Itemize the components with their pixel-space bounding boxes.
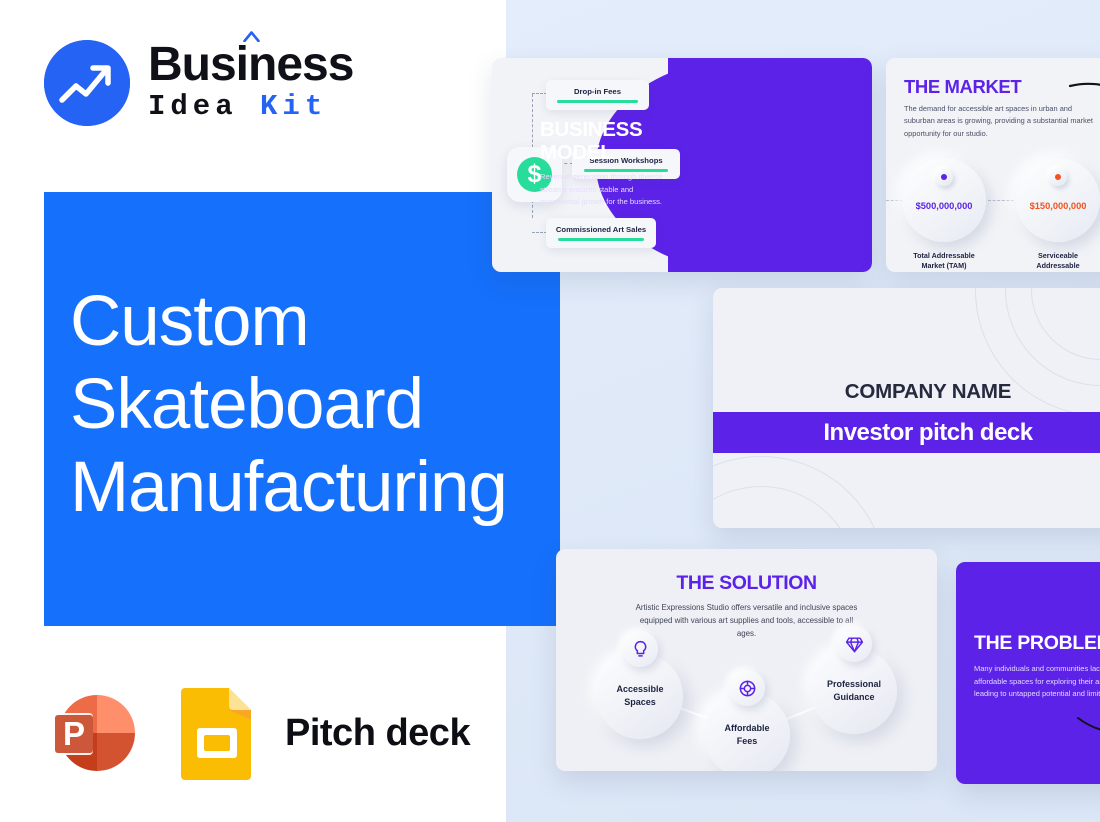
format-badges: P Pitch deck <box>45 686 470 780</box>
slide-company-title[interactable]: COMPANY NAME Investor pitch deck <box>713 288 1100 528</box>
logo-wordmark-idea: Idea <box>148 90 238 123</box>
solution-title: THE SOLUTION <box>556 572 937 595</box>
solution-node-label: Professional Guidance <box>827 678 881 704</box>
hero-title-line-1: Custom <box>70 280 570 363</box>
logo-wordmark-line1: Business <box>148 42 353 88</box>
slide-the-problem[interactable]: THE PROBLEM Many individuals and communi… <box>956 562 1100 784</box>
metric-connector <box>886 200 903 201</box>
curved-underline-icon <box>1076 714 1100 740</box>
metric-knob-icon <box>935 168 953 186</box>
slide-the-market[interactable]: THE MARKET The demand for accessible art… <box>886 58 1100 272</box>
metric-value: $150,000,000 <box>1030 201 1087 211</box>
metric-label-line-1: Total Addressable <box>902 251 986 261</box>
poster-canvas: Business Idea Kit Custom Skateboard Manu… <box>0 0 1100 822</box>
hero-title-line-3: Manufacturing <box>70 446 570 529</box>
business-model-purple-panel <box>668 58 872 272</box>
metric-label-line-2: Market (SAM) <box>1016 271 1100 272</box>
company-name: COMPANY NAME <box>713 380 1100 404</box>
metric-label-line-2: Market (TAM) <box>902 261 986 271</box>
solution-node[interactable]: Professional Guidance <box>811 648 897 734</box>
format-label: Pitch deck <box>285 712 470 755</box>
market-title: THE MARKET <box>904 76 1021 98</box>
pitch-deck-subtitle: Investor pitch deck <box>823 419 1032 447</box>
slide-business-model[interactable]: $ Drop-in Fees Session Workshops Commiss… <box>492 58 872 272</box>
solution-node-label-line-1: Accessible <box>616 684 663 694</box>
curved-arrow-icon <box>1068 80 1100 138</box>
underline-accent <box>557 100 637 102</box>
connector-bottom <box>532 232 547 233</box>
target-icon <box>729 670 765 706</box>
solution-node-label: Affordable Fees <box>725 722 770 748</box>
revenue-stream-label: Drop-in Fees <box>574 87 621 96</box>
underline-accent <box>558 238 644 240</box>
brand-logo: Business Idea Kit <box>44 40 353 126</box>
solution-description: Artistic Expressions Studio offers versa… <box>634 601 860 641</box>
market-metric[interactable]: $500,000,000 Total Addressable Market (T… <box>902 158 986 271</box>
growth-arrow-chart-icon <box>44 40 130 126</box>
metric-label: Serviceable Addressable Market (SAM) <box>1016 251 1100 272</box>
logo-wordmark-line1-text: Business <box>148 38 353 91</box>
microsoft-powerpoint-icon: P <box>45 686 139 780</box>
metric-label-line-1: Serviceable Addressable <box>1016 251 1100 271</box>
google-slides-icon <box>177 686 257 780</box>
solution-node-label-line-2: Spaces <box>624 697 656 707</box>
diamond-icon <box>836 626 872 662</box>
business-model-description: Revenue generation through diverse strea… <box>540 171 670 209</box>
solution-node-label: Accessible Spaces <box>616 683 663 709</box>
svg-text:P: P <box>63 715 85 752</box>
solution-node[interactable]: Affordable Fees <box>704 692 790 771</box>
solution-node-label-line-1: Professional <box>827 679 881 689</box>
hero-title-line-2: Skateboard <box>70 363 570 446</box>
business-model-title: BUSINESS MODEL <box>540 118 642 164</box>
revenue-stream-label: Commissioned Art Sales <box>556 225 646 234</box>
hero-title: Custom Skateboard Manufacturing <box>70 280 570 529</box>
logo-wordmark-line2: Idea Kit <box>148 90 353 123</box>
solution-node-label-line-2: Guidance <box>833 692 874 702</box>
logo-wordmark-kit: Kit <box>260 90 327 123</box>
business-model-title-line-2: MODEL <box>540 141 642 164</box>
connector-top <box>532 93 547 94</box>
metric-knob-icon <box>1049 168 1067 186</box>
revenue-stream-item[interactable]: Drop-in Fees <box>546 80 649 110</box>
solution-node-label-line-2: Fees <box>737 736 758 746</box>
revenue-stream-item[interactable]: Commissioned Art Sales <box>546 218 656 248</box>
pitch-deck-band: Investor pitch deck <box>713 412 1100 453</box>
market-metric[interactable]: $150,000,000 Serviceable Addressable Mar… <box>1016 158 1100 272</box>
problem-description: Many individuals and communities lack ac… <box>974 663 1100 701</box>
lightbulb-icon <box>622 631 658 667</box>
metric-connector <box>988 200 1014 201</box>
problem-title: THE PROBLEM <box>974 632 1100 655</box>
metric-value: $500,000,000 <box>916 201 973 211</box>
solution-node-label-line-1: Affordable <box>725 723 770 733</box>
solution-node[interactable]: Accessible Spaces <box>597 653 683 739</box>
slide-the-solution[interactable]: THE SOLUTION Artistic Expressions Studio… <box>556 549 937 771</box>
circumflex-accent-icon <box>243 31 260 42</box>
metric-label: Total Addressable Market (TAM) <box>902 251 986 271</box>
business-model-title-line-1: BUSINESS <box>540 118 642 141</box>
